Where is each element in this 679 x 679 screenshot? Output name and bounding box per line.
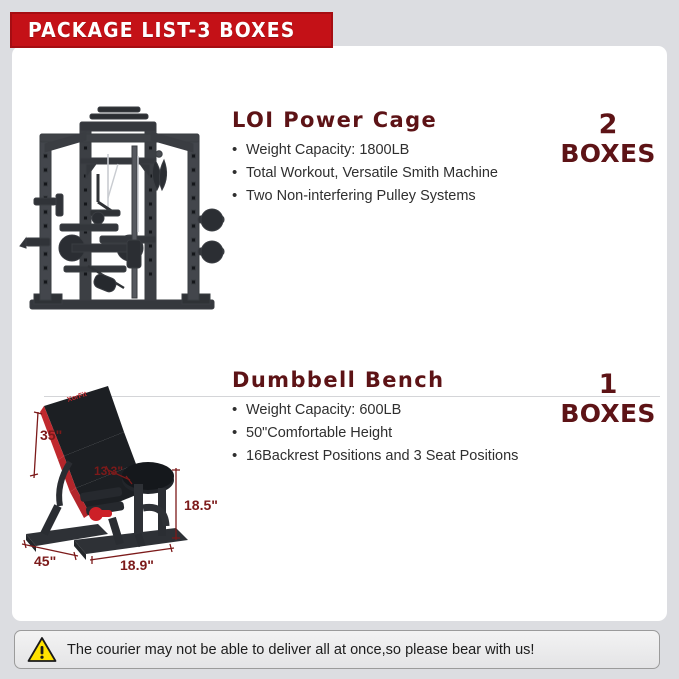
box-quantity: 1	[549, 370, 667, 400]
delivery-notice-bar: The courier may not be able to deliver a…	[14, 630, 660, 669]
product-title: LOI Power Cage	[232, 108, 549, 132]
product-title: Dumbbell Bench	[232, 368, 549, 392]
dimension-width: 18.9"	[120, 557, 154, 573]
dimension-backrest: 35"	[40, 427, 62, 443]
dumbbell-bench-info: Dumbbell Bench Weight Capacity: 600LB 50…	[232, 358, 549, 468]
dumbbell-bench-photo: XorFit 35" 18.5"	[12, 358, 232, 588]
product-row-dumbbell-bench: XorFit 35" 18.5"	[12, 358, 667, 588]
feature-list: Weight Capacity: 600LB 50"Comfortable He…	[232, 399, 549, 468]
dumbbell-bench-box-count: 1 BOXES	[549, 358, 667, 428]
power-cage-info: LOI Power Cage Weight Capacity: 1800LB T…	[232, 98, 549, 208]
power-cage-box-count: 2 BOXES	[549, 98, 667, 168]
content-card: LOI Power Cage Weight Capacity: 1800LB T…	[12, 46, 667, 621]
delivery-notice-text: The courier may not be able to deliver a…	[67, 641, 534, 658]
feature-item: Weight Capacity: 1800LB	[232, 139, 549, 162]
package-list-banner: PACKAGE LIST-3 BOXES	[10, 12, 333, 48]
feature-list: Weight Capacity: 1800LB Total Workout, V…	[232, 139, 549, 208]
feature-item: 50"Comfortable Height	[232, 422, 549, 445]
feature-item: 16Backrest Positions and 3 Seat Position…	[232, 445, 549, 468]
banner-title: PACKAGE LIST-3 BOXES	[28, 18, 295, 42]
dimension-seat: 13.3"	[94, 464, 123, 478]
box-quantity: 2	[549, 110, 667, 140]
box-unit-label: BOXES	[549, 400, 667, 428]
warning-triangle-icon	[27, 636, 57, 663]
feature-item: Total Workout, Versatile Smith Machine	[232, 162, 549, 185]
feature-item: Weight Capacity: 600LB	[232, 399, 549, 422]
power-cage-photo	[12, 98, 232, 328]
product-row-power-cage: LOI Power Cage Weight Capacity: 1800LB T…	[12, 98, 667, 328]
dimension-length: 45"	[34, 553, 56, 569]
dumbbell-bench-image: XorFit 35" 18.5"	[12, 358, 232, 588]
power-cage-image	[12, 98, 232, 328]
feature-item: Two Non-interfering Pulley Systems	[232, 185, 549, 208]
dimension-height: 18.5"	[184, 497, 218, 513]
box-unit-label: BOXES	[549, 140, 667, 168]
